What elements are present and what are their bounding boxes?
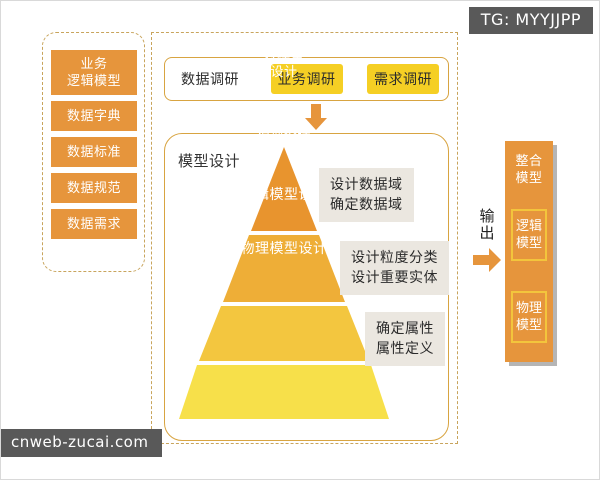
left-item-label: 数据需求 bbox=[67, 216, 121, 233]
left-item-label: 数据规范 bbox=[67, 180, 121, 197]
note-granularity-entity: 设计粒度分类设计重要实体 bbox=[340, 241, 449, 295]
site-watermark-badge: cnweb-zucai.com bbox=[1, 429, 162, 457]
left-item-data-specification[interactable]: 数据规范 bbox=[51, 173, 137, 203]
pyramid-tier-physical bbox=[179, 365, 389, 419]
output-models-column: 整合模型 逻辑模型 物理模型 bbox=[505, 141, 553, 362]
note-data-domain: 设计数据域确定数据域 bbox=[319, 168, 414, 222]
diagram-canvas: TG: MYYJJPP 业务逻辑模型 数据字典 数据标准 数据规范 数据需求 数… bbox=[0, 0, 600, 480]
output-column-title: 整合模型 bbox=[505, 153, 553, 187]
right-arrow-icon bbox=[473, 248, 501, 272]
pyramid-tier-conceptual bbox=[223, 235, 345, 302]
down-arrow-icon bbox=[305, 104, 327, 130]
left-item-label: 数据字典 bbox=[67, 108, 121, 125]
note-attribute-definition: 确定属性属性定义 bbox=[365, 312, 445, 366]
output-item-label: 逻辑模型 bbox=[516, 218, 542, 252]
pyramid-tier-subject-domain bbox=[251, 147, 317, 231]
output-item-physical-model[interactable]: 物理模型 bbox=[511, 291, 547, 343]
pyramid-tier-logical bbox=[199, 306, 369, 361]
output-item-logical-model[interactable]: 逻辑模型 bbox=[511, 209, 547, 261]
output-label: 输出 bbox=[479, 208, 495, 242]
left-item-data-requirement[interactable]: 数据需求 bbox=[51, 209, 137, 239]
left-item-data-standard[interactable]: 数据标准 bbox=[51, 137, 137, 167]
output-item-label: 物理模型 bbox=[516, 300, 542, 334]
chip-business-survey[interactable]: 业务调研 bbox=[271, 64, 343, 94]
tg-watermark-badge: TG: MYYJJPP bbox=[469, 7, 593, 34]
chip-data-survey[interactable]: 数据调研 bbox=[174, 64, 246, 94]
input-artifacts-panel: 业务逻辑模型 数据字典 数据标准 数据规范 数据需求 bbox=[42, 32, 145, 272]
left-item-label: 业务逻辑模型 bbox=[67, 56, 121, 90]
survey-row: 数据调研 业务调研 需求调研 bbox=[164, 57, 449, 101]
left-item-data-dictionary[interactable]: 数据字典 bbox=[51, 101, 137, 131]
left-item-business-logic-model[interactable]: 业务逻辑模型 bbox=[51, 50, 137, 95]
left-item-label: 数据标准 bbox=[67, 144, 121, 161]
chip-requirement-survey[interactable]: 需求调研 bbox=[367, 64, 439, 94]
